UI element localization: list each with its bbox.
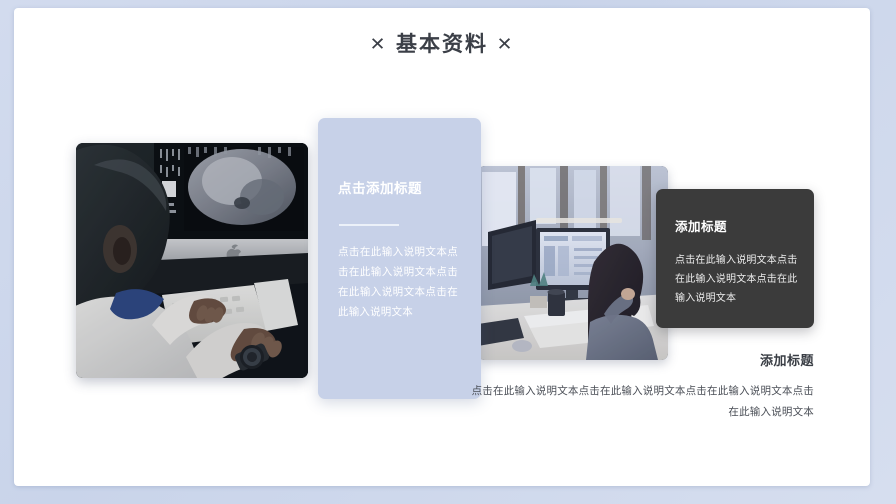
bottom-right-caption: 添加标题 点击在此输入说明文本点击在此输入说明文本点击在此输入说明文本点击在此输…: [469, 350, 814, 423]
dark-card-title: 添加标题: [675, 216, 727, 235]
blue-card-title: 点击添加标题: [338, 177, 422, 197]
photo-woman-at-desk: [478, 166, 668, 360]
photo-left-artwork: [76, 143, 308, 378]
blue-info-card[interactable]: 点击添加标题 点击在此输入说明文本点击在此输入说明文本点击在此输入说明文本点击在…: [318, 118, 481, 399]
page-title-text: 基本资料: [396, 33, 488, 56]
blue-card-body: 点击在此输入说明文本点击在此输入说明文本点击在此输入说明文本点击在此输入说明文本: [338, 242, 458, 322]
blue-card-divider: [339, 224, 399, 226]
slide-canvas: ✕基本资料✕: [0, 0, 896, 504]
slide-content-panel: ✕基本资料✕: [14, 8, 870, 486]
dark-info-card[interactable]: 添加标题 点击在此输入说明文本点击在此输入说明文本点击在此输入说明文本: [656, 189, 814, 328]
photo-person-at-imac: [76, 143, 308, 378]
page-title: ✕基本资料✕: [14, 28, 870, 58]
cross-icon-left: ✕: [369, 34, 387, 55]
photo-right-artwork: [478, 166, 668, 360]
cross-icon-right: ✕: [497, 34, 515, 55]
caption-body: 点击在此输入说明文本点击在此输入说明文本点击在此输入说明文本点击在此输入说明文本: [469, 381, 814, 423]
caption-title: 添加标题: [469, 350, 814, 369]
dark-card-body: 点击在此输入说明文本点击在此输入说明文本点击在此输入说明文本: [675, 251, 799, 308]
